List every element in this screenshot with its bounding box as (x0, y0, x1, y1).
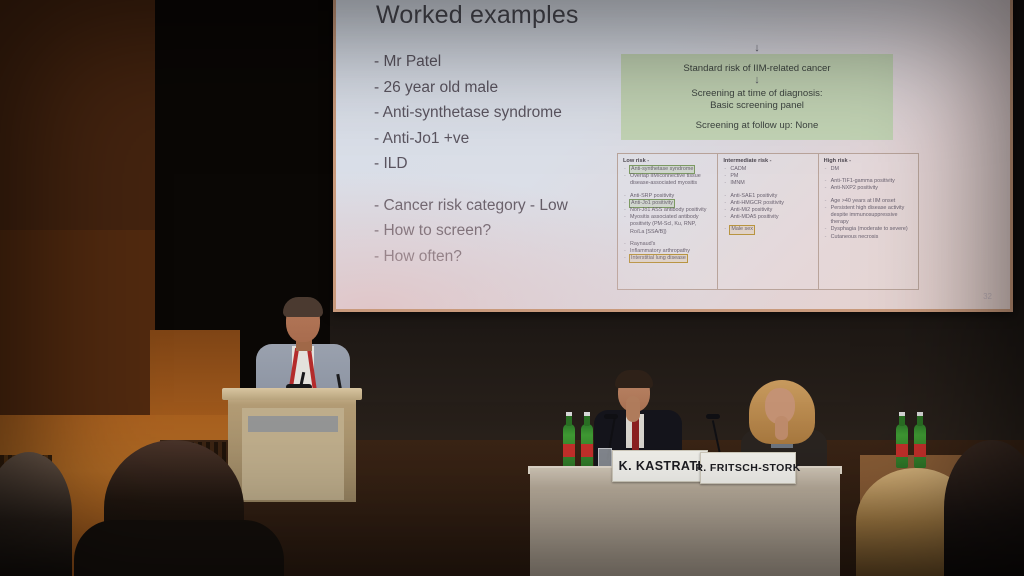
panel-table (530, 468, 840, 576)
risk-item: Anti-HMGCR positivity (723, 200, 812, 207)
panelist-left-tie (632, 418, 639, 452)
bottle-label (896, 444, 908, 457)
risk-column: High risk -DMAnti-TIF1-gamma positivityA… (819, 154, 918, 289)
lecture-hall-scene: Worked examples - Mr Patel - 26 year old… (0, 0, 1024, 576)
water-bottle (563, 424, 575, 468)
risk-item: Anti-SAE1 positivity (723, 193, 812, 200)
podium-control-panel (248, 416, 338, 432)
risk-item: despite immunosuppressive therapy (824, 212, 913, 226)
risk-column-header: Intermediate risk - (723, 158, 812, 164)
table-microphone-left-head (604, 414, 618, 419)
risk-item: Dysphagia (moderate to severe) (824, 226, 913, 233)
slide-bullet-list: - Mr Patel - 26 year old male - Anti-syn… (374, 49, 568, 269)
table-microphone-right-head (706, 414, 720, 419)
risk-stratification-table: Low risk -Anti-synthetase syndromeOverla… (617, 153, 919, 290)
panelist-left-hand (626, 396, 640, 422)
bullet-item: - Anti-synthetase syndrome (374, 100, 568, 126)
risk-item: Raynaud's (623, 241, 712, 248)
bullet-item: - ILD (374, 151, 568, 177)
down-arrow-icon-2: ↓ (621, 76, 893, 85)
bottle-label (581, 444, 593, 457)
wall-wood-panel-upper (0, 0, 160, 230)
risk-item: IMNM (723, 180, 812, 187)
bottle-label (563, 444, 575, 457)
projected-slide: Worked examples - Mr Patel - 26 year old… (336, 0, 1010, 309)
nameplate-label: R. FRITSCH-STORK (695, 462, 800, 474)
down-arrow-icon: ↓ (621, 44, 893, 53)
nameplate-label: K. KASTRATI (619, 459, 702, 473)
risk-item: Male sex (723, 226, 812, 233)
recommendation-line: Screening at follow up: None (621, 113, 893, 133)
risk-item: Overlap IIM/connective tissue (623, 173, 712, 180)
nameplate-kastrati: K. KASTRATI (612, 450, 708, 482)
audience-shoulders (74, 520, 284, 576)
risk-item: Persistent high disease activity (824, 205, 913, 212)
podium-top-surface (222, 388, 362, 400)
slide-title: Worked examples (376, 1, 579, 30)
risk-column-header: High risk - (824, 158, 913, 164)
projection-screen: Worked examples - Mr Patel - 26 year old… (333, 0, 1013, 312)
risk-item: CADM (723, 166, 812, 173)
risk-item: Interstitial lung disease (623, 255, 712, 262)
bullet-item: - How often? (374, 244, 568, 270)
risk-item: Anti-SRP positivity (623, 193, 712, 200)
risk-item-highlight: Anti-synthetase syndrome (630, 166, 694, 173)
panelist-left-hair (615, 370, 653, 388)
risk-column: Intermediate risk -CADMPMIMNMAnti-SAE1 p… (718, 154, 818, 289)
water-bottle (914, 424, 926, 468)
risk-item: Anti-TIF1-gamma positivity (824, 178, 913, 185)
risk-item: Anti-synthetase syndrome (623, 166, 712, 173)
risk-column-header: Low risk - (623, 158, 712, 164)
bottle-label (914, 444, 926, 457)
water-bottle (896, 424, 908, 468)
risk-item: Myositis associated antibody (623, 214, 712, 221)
risk-item-highlight: Anti-Jo1 positivity (630, 200, 674, 207)
risk-item: Ro/La [SSA/B]) (623, 229, 712, 236)
risk-item: DM (824, 166, 913, 173)
bullet-item: - Mr Patel (374, 49, 568, 75)
risk-column: Low risk -Anti-synthetase syndromeOverla… (618, 154, 718, 289)
panelist-right-hand (775, 416, 788, 440)
nameplate-fritsch-stork: R. FRITSCH-STORK (700, 452, 796, 484)
risk-item: disease-associated myositis (623, 180, 712, 187)
bullet-spacer (374, 177, 568, 193)
slide-number: 32 (983, 292, 992, 301)
bullet-item: - Anti-Jo1 +ve (374, 126, 568, 152)
risk-item: Inflammatory arthropathy (623, 248, 712, 255)
risk-item: Anti-Jo1 positivity (623, 200, 712, 207)
risk-item: Age >40 years at IIM onset (824, 198, 913, 205)
risk-item: PM (723, 173, 812, 180)
recommendation-line: Basic screening panel (621, 100, 893, 113)
recommendation-box: Standard risk of IIM-related cancer ↓ Sc… (621, 54, 893, 140)
recommendation-line: Standard risk of IIM-related cancer (621, 54, 893, 76)
bullet-item: - How to screen? (374, 218, 568, 244)
speaker-hair (283, 297, 323, 317)
recommendation-line: Screening at time of diagnosis: (621, 85, 893, 101)
water-bottle (581, 424, 593, 468)
risk-item-highlight: Male sex (730, 226, 754, 233)
wall-wood-panel-mid (0, 230, 160, 415)
bullet-item: - Cancer risk category - Low (374, 193, 568, 219)
risk-item-highlight: Interstitial lung disease (630, 255, 687, 262)
risk-item: Anti-MDA5 positivity (723, 214, 812, 221)
risk-item: Cutaneous necrosis (824, 234, 913, 241)
risk-item: Non-Jo1 ASS antibody positivity (623, 207, 712, 214)
risk-item: positivity (PM-Scl, Ku, RNP, (623, 221, 712, 228)
risk-item: Anti-NXP2 positivity (824, 185, 913, 192)
bullet-item: - 26 year old male (374, 75, 568, 101)
risk-item: Anti-Mi2 positivity (723, 207, 812, 214)
